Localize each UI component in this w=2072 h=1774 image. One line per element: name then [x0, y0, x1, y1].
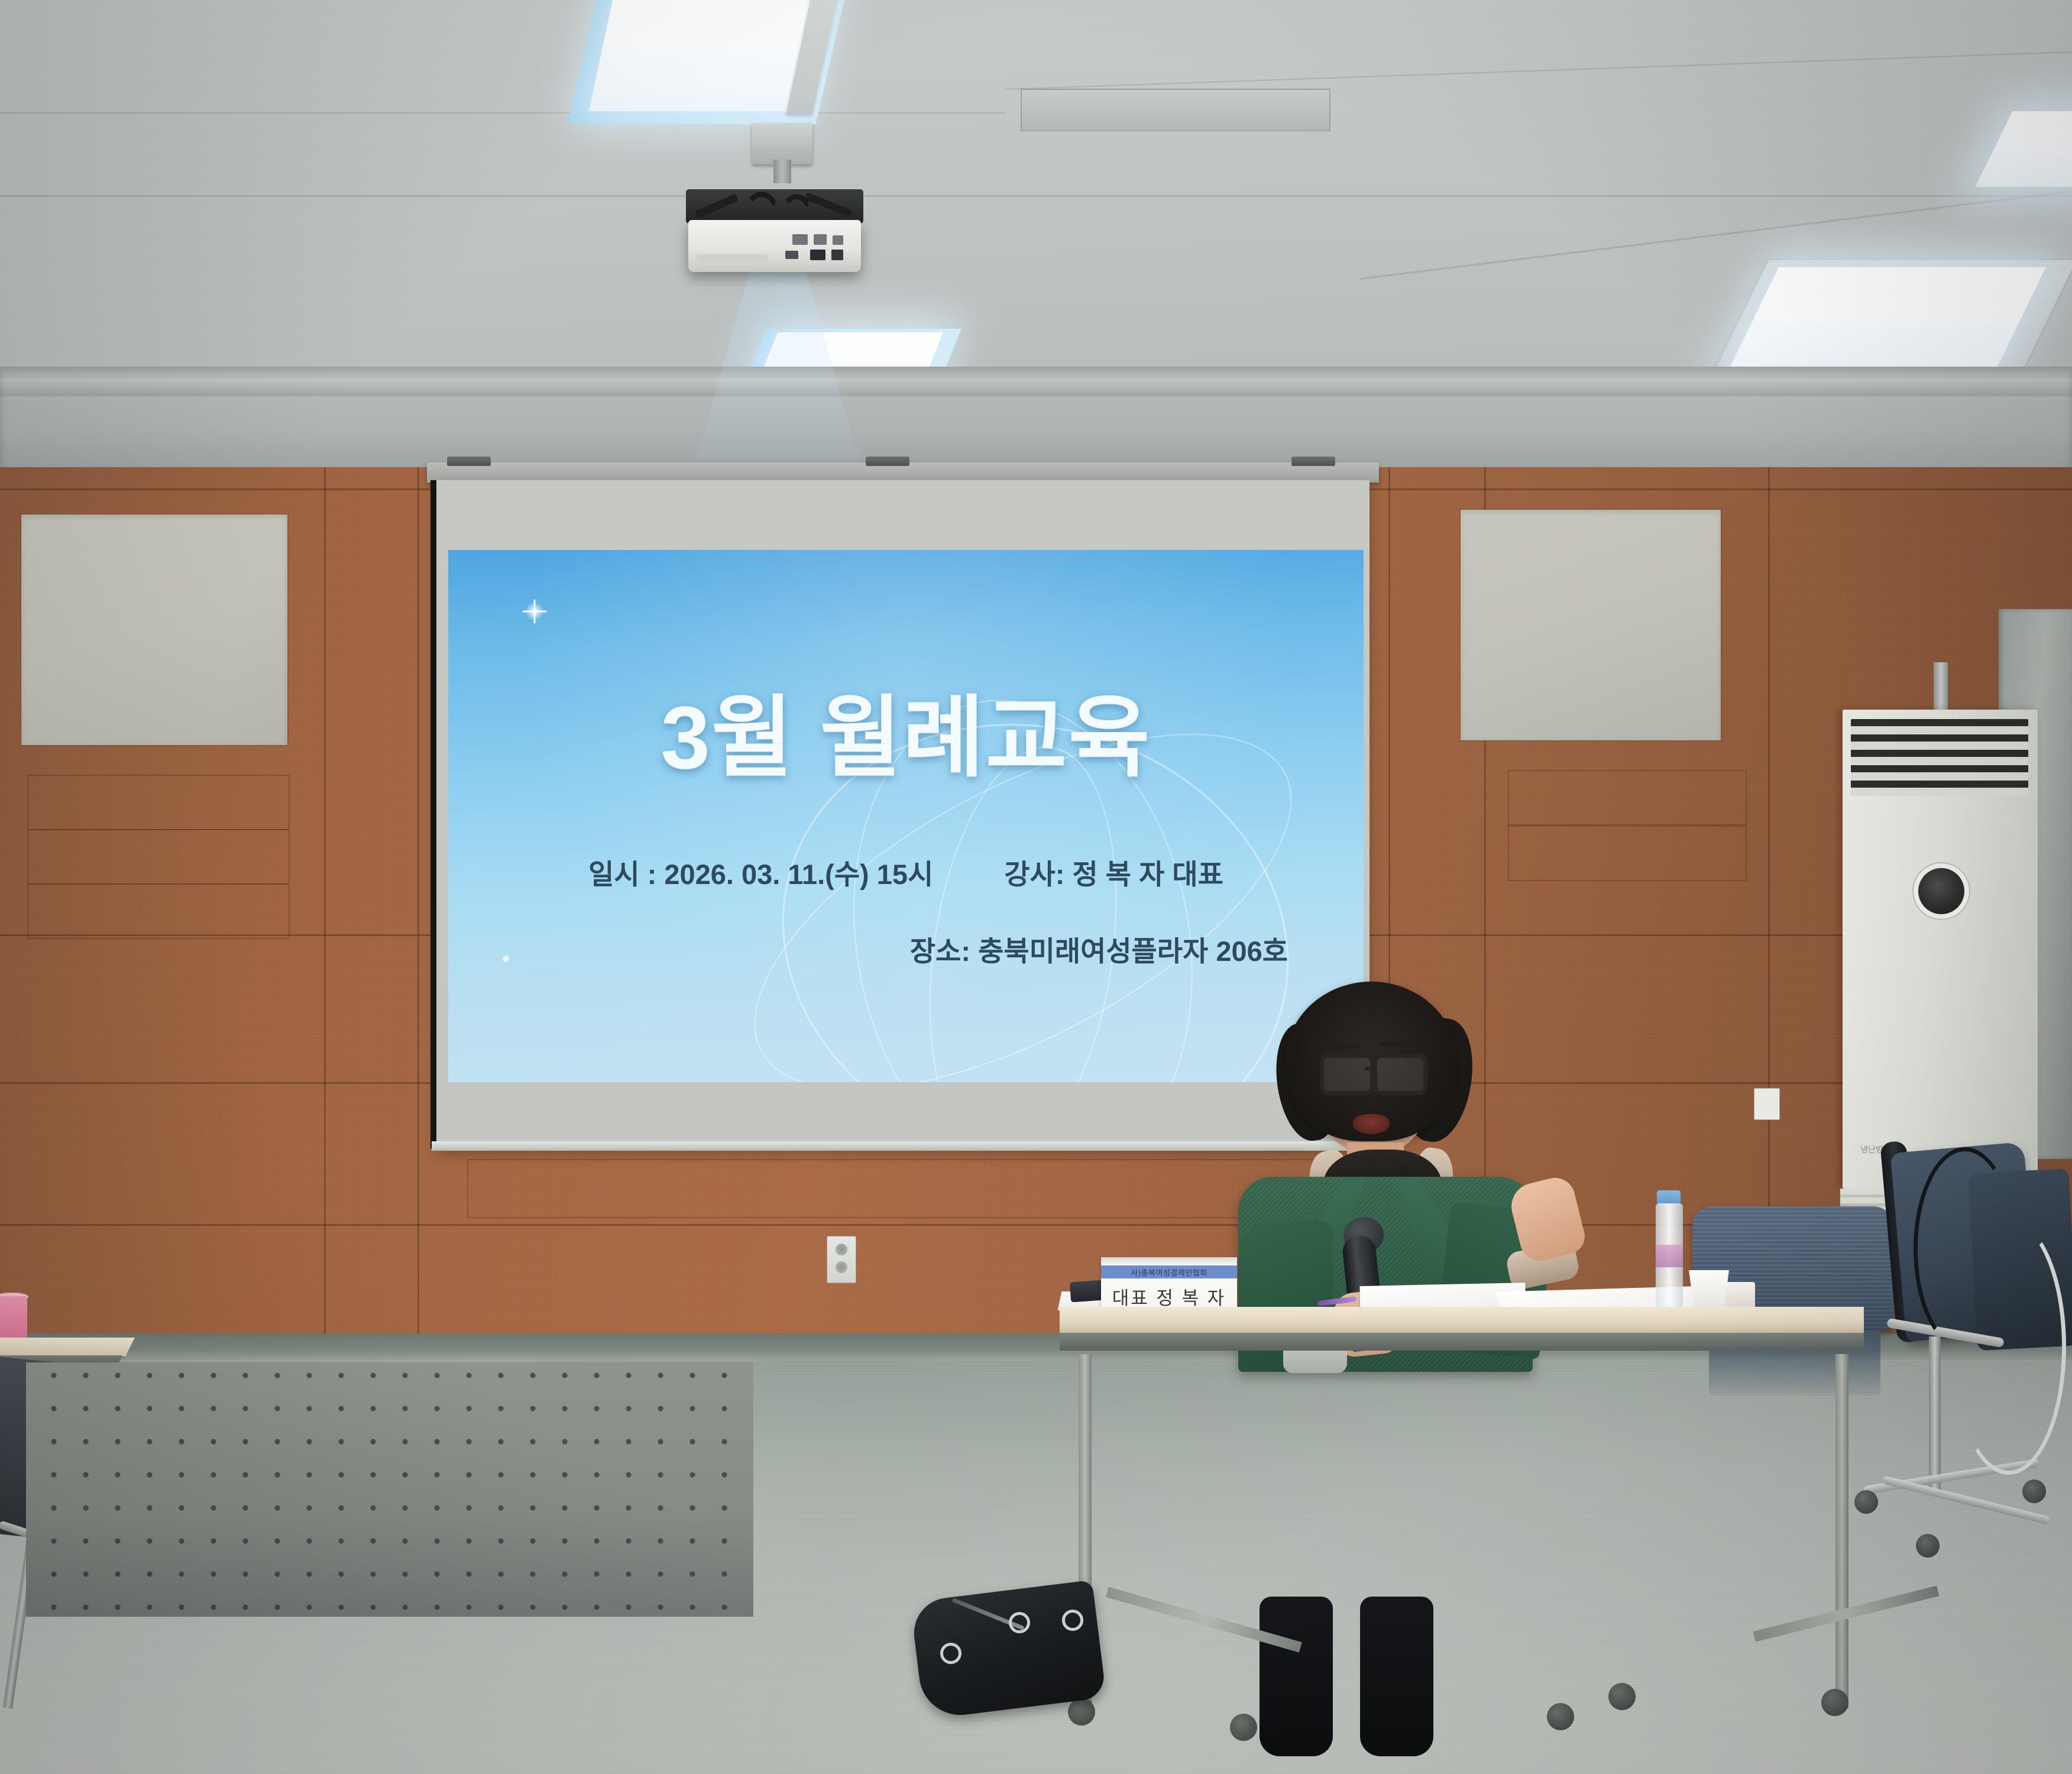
glasses-bridge: [1365, 1067, 1375, 1071]
ac-pipe: [1934, 662, 1948, 716]
screen-housing: [427, 462, 1379, 483]
chair-wheel-2: [1916, 1534, 1940, 1558]
nameplate-org: 사)충북여성경제인협회: [1101, 1265, 1237, 1278]
conference-table: [1060, 1307, 1864, 1368]
table-caster-2: [1230, 1714, 1257, 1741]
wall-switch[interactable]: [1754, 1088, 1780, 1120]
glasses-left-lens: [1320, 1054, 1374, 1095]
glasses-right-lens: [1373, 1054, 1427, 1095]
table-caster-3: [1547, 1703, 1574, 1730]
nameplate: 사)충북여성경제인협회 대표 정 복 자: [1101, 1257, 1237, 1309]
slide-speaker: 강사: 정 복 자 대표: [1004, 852, 1223, 892]
mouth: [1353, 1114, 1390, 1134]
power-cable-2: [1951, 1218, 2066, 1475]
table-caster-1: [1068, 1698, 1095, 1726]
bag-ring-3: [1062, 1610, 1083, 1631]
slide-title: 3월 월례교육: [448, 666, 1364, 794]
bag-ring-2: [1009, 1612, 1030, 1633]
pink-cup: [0, 1296, 27, 1344]
acoustic-panel-left: [21, 514, 287, 745]
slide-meta-row-1: 일시 : 2026. 03. 11.(수) 15시 강사: 정 복 자 대표: [448, 852, 1364, 892]
wall-outlet: [827, 1236, 856, 1283]
ceiling-light-4: [1976, 111, 2072, 187]
bag-ring-1: [940, 1643, 961, 1664]
floor-bag[interactable]: [910, 1580, 1106, 1720]
bottle-label: [1656, 1245, 1683, 1267]
chair-wheel-3: [2022, 1480, 2046, 1503]
table-leg-2: [1835, 1354, 1848, 1709]
projector-cable-bundle: [686, 189, 863, 224]
leg-right: [1360, 1597, 1433, 1756]
air-conditioner: 냉난방기 FOCUS: [1843, 710, 2038, 1189]
nameplate-name: 대표 정 복 자: [1101, 1283, 1237, 1310]
projector-mount: [752, 123, 812, 164]
ac-knob[interactable]: [1918, 868, 1964, 914]
table-edge: [1060, 1333, 1864, 1351]
table-top: [1060, 1307, 1864, 1333]
leg-left: [1260, 1597, 1333, 1756]
lecture-room-photo: 3월 월례교육 일시 : 2026. 03. 11.(수) 15시 강사: 정 …: [0, 0, 2072, 1774]
cup-print: [1692, 1293, 1725, 1302]
ceiling: [0, 0, 2072, 473]
chair-post-1: [1929, 1336, 1941, 1490]
projector: [688, 220, 861, 272]
ceiling-light-3: [1729, 267, 2046, 369]
table-caster-4: [1821, 1689, 1848, 1716]
ceiling-vent: [1021, 89, 1330, 131]
slide-dot: [503, 956, 509, 962]
projector-pole: [773, 160, 791, 183]
ac-grille: [1851, 719, 2028, 796]
table-caster-5: [1608, 1683, 1636, 1710]
ceiling-light-1: [589, 0, 821, 111]
acoustic-panel-right: [1461, 510, 1721, 740]
table-modesty-panel: [26, 1362, 753, 1617]
slide-place: 장소: 충북미래여성플라자 206호: [910, 928, 1288, 969]
left-table-top: [0, 1338, 135, 1357]
slide-star-icon: [524, 601, 545, 622]
chair-wheel-1: [1854, 1490, 1878, 1514]
slide-date: 일시 : 2026. 03. 11.(수) 15시: [588, 852, 933, 892]
